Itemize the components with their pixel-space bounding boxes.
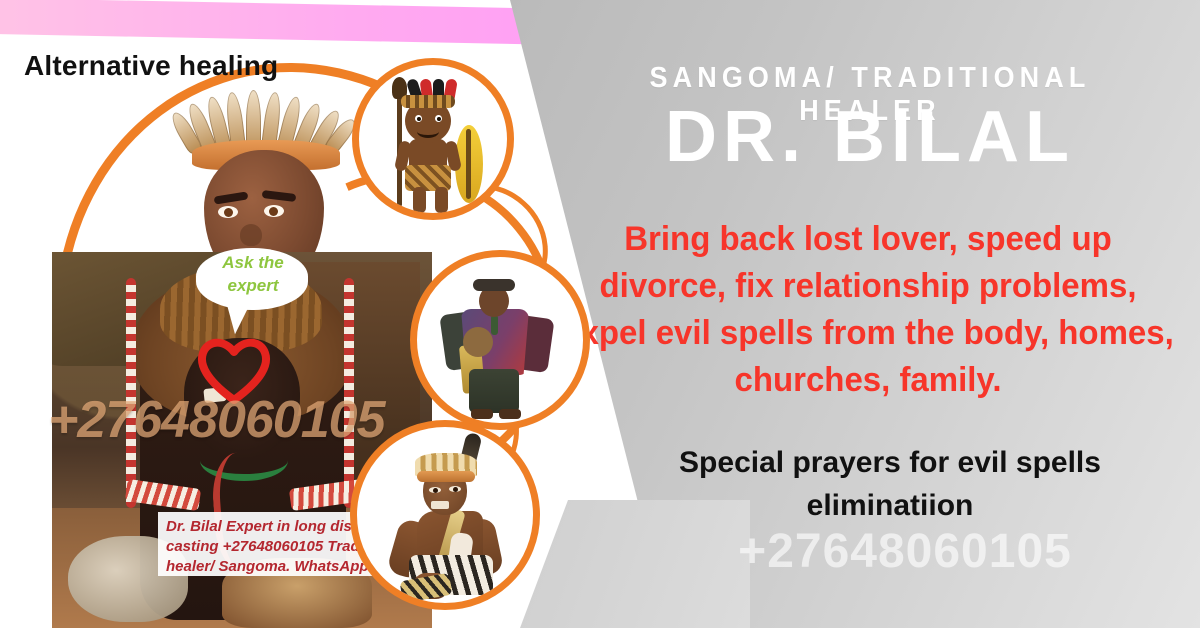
brand-title: DR. BILAL [560,100,1180,176]
leg-left [413,187,426,213]
badge-zulu-warrior [352,58,514,220]
eye-left [429,487,441,493]
tie [491,315,498,335]
page-title: Alternative healing [24,50,278,82]
leg-right [435,187,448,213]
badge-crouching-warrior [350,420,540,610]
shoe-right [499,409,521,419]
speech-bubble-text: Ask the expert [200,252,306,298]
smile [417,125,439,138]
hat [473,279,515,291]
eye-left [415,115,422,122]
teeth [431,501,449,509]
nose [240,224,262,246]
pupil-left [224,208,233,217]
pupil-right [269,207,278,216]
ghost-phone-number: +27648060105 [620,524,1190,579]
shoe-left [471,409,493,419]
poster-canvas: SANGOMA/ TRADITIONAL HEALER DR. BILAL Br… [0,0,1200,628]
headband [401,95,455,108]
eye-right [449,486,461,492]
drum-disc [463,327,493,357]
top-pink-bar [0,0,594,46]
badge-traditional-healer [410,250,590,430]
trousers [469,369,519,413]
eye-right [435,115,442,122]
services-text: Bring back lost lover, speed up divorce,… [558,216,1179,404]
crown-band [417,471,475,482]
subheading-text: Special prayers for evil spells eliminat… [600,442,1180,527]
